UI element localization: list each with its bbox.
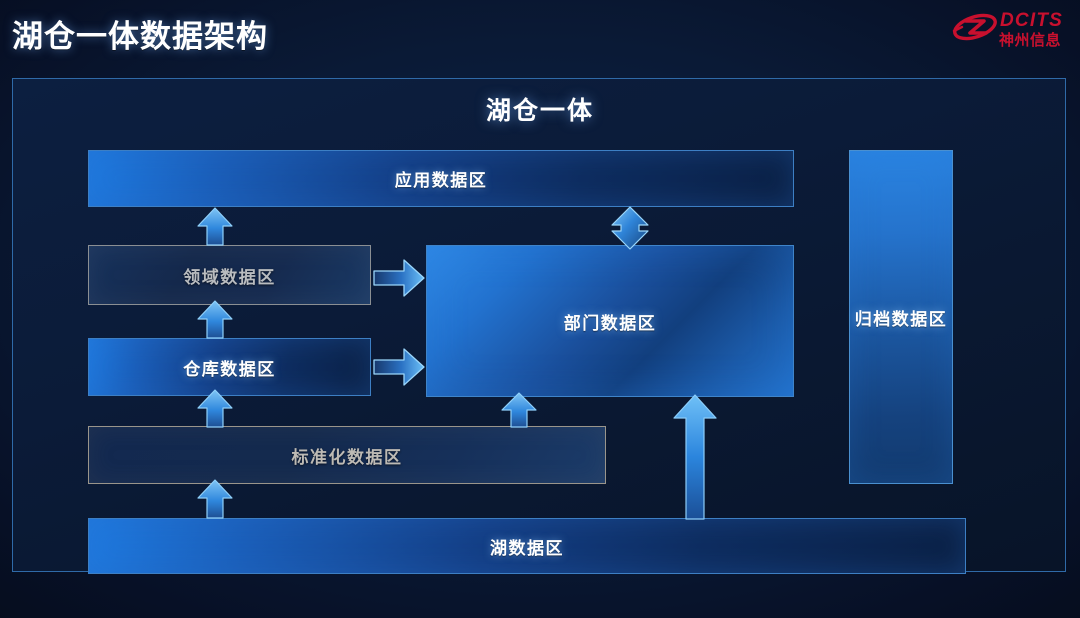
- arrow-right-icon: [373, 347, 425, 387]
- standardized-data-zone-label: 标准化数据区: [292, 443, 403, 468]
- arrow-up-icon: [196, 300, 234, 339]
- arrow-up-down-icon: [608, 206, 652, 250]
- brand-subtitle: 神州信息: [999, 29, 1061, 50]
- arrow-warehouse-to-department: [373, 347, 425, 387]
- dcits-swoosh-icon: [952, 9, 998, 45]
- arrow-up-long-icon: [672, 394, 718, 520]
- department-data-zone-label: 部门数据区: [564, 309, 657, 334]
- arrow-lake-to-standardized: [196, 479, 234, 519]
- application-data-zone-label: 应用数据区: [395, 166, 488, 191]
- warehouse-data-zone-label: 仓库数据区: [183, 355, 276, 380]
- slide-canvas: 湖仓一体数据架构 DCITS 神州信息 湖仓一体 应用数据区 领域数据区 仓库数…: [0, 0, 1080, 618]
- archive-data-zone-box[interactable]: 归档数据区: [849, 150, 953, 484]
- page-title: 湖仓一体数据架构: [12, 11, 268, 56]
- arrow-right-icon: [373, 258, 425, 298]
- arrow-warehouse-to-domain: [196, 300, 234, 339]
- slide-header: 湖仓一体数据架构 DCITS 神州信息: [0, 0, 1080, 62]
- lake-data-zone-label: 湖数据区: [490, 534, 564, 559]
- arrow-up-icon: [500, 392, 538, 428]
- lake-data-zone-box[interactable]: 湖数据区: [88, 518, 966, 574]
- arrow-up-icon: [196, 479, 234, 519]
- application-data-zone-box[interactable]: 应用数据区: [88, 150, 794, 207]
- arrow-standardized-to-department: [500, 392, 538, 428]
- warehouse-data-zone-box[interactable]: 仓库数据区: [88, 338, 371, 396]
- arrow-lake-to-department: [672, 394, 718, 520]
- arrow-standardized-to-warehouse: [196, 389, 234, 428]
- department-data-zone-box[interactable]: 部门数据区: [426, 245, 794, 397]
- domain-data-zone-box[interactable]: 领域数据区: [88, 245, 371, 305]
- brand-logo: DCITS 神州信息: [952, 7, 1072, 51]
- domain-data-zone-label: 领域数据区: [183, 263, 276, 288]
- arrow-domain-to-application: [196, 207, 234, 246]
- panel-title: 湖仓一体: [13, 91, 1067, 127]
- arrow-application-department-bidirectional: [608, 206, 652, 250]
- arrow-domain-to-department: [373, 258, 425, 298]
- standardized-data-zone-box[interactable]: 标准化数据区: [88, 426, 606, 484]
- arrow-up-icon: [196, 389, 234, 428]
- archive-data-zone-label: 归档数据区: [855, 305, 948, 330]
- arrow-up-icon: [196, 207, 234, 246]
